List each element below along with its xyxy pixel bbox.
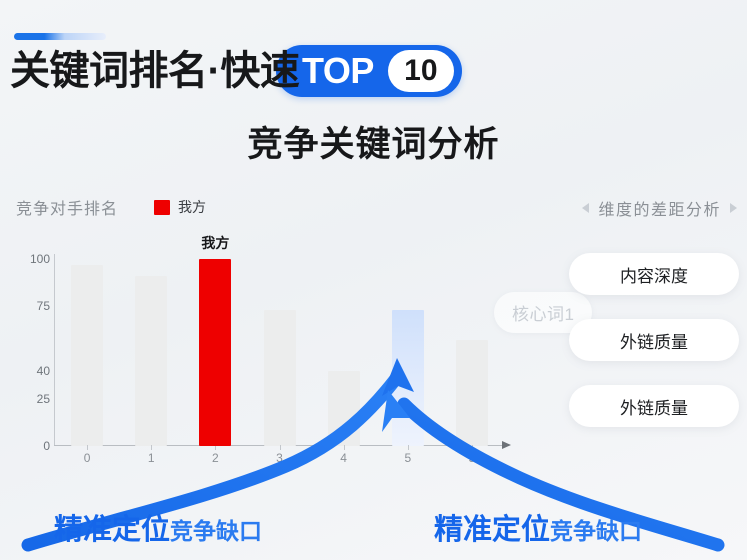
x-axis-tickmark [151, 445, 152, 450]
x-axis-tick: 4 [340, 451, 347, 465]
legend-label: 我方 [178, 197, 206, 217]
caption-right: 精准定位 竞争缺口 [434, 506, 642, 548]
slide-canvas: 关键词排名·快速 TOP 10 竞争关键词分析 竞争对手排名 我方 维度的差距分… [0, 0, 747, 560]
x-axis-tick: 0 [84, 451, 91, 465]
page-subtitle: 竞争关键词分析 [0, 116, 747, 167]
y-axis-tick: 75 [10, 299, 50, 313]
y-axis-tick: 100 [10, 252, 50, 266]
chart-bar [135, 276, 167, 446]
bar-chart: 1007540250 01我方23455 [8, 250, 538, 465]
caption-right-weak: 竞争缺口 [550, 512, 642, 546]
chart-header: 竞争对手排名 我方 [16, 195, 206, 219]
x-axis-tickmark [344, 445, 345, 450]
x-axis-tick: 2 [212, 451, 219, 465]
dimension-card-label: 外链质量 [620, 328, 688, 353]
top-rank-pill: TOP 10 [276, 45, 462, 97]
panel-title: 维度的差距分析 [598, 196, 721, 220]
chart-bar-label: 我方 [201, 233, 229, 253]
y-axis-tick: 40 [10, 364, 50, 378]
y-axis-tick: 25 [10, 392, 50, 406]
chart-bar [392, 310, 424, 446]
caption-left-weak: 竞争缺口 [170, 512, 262, 546]
x-axis-tick: 5 [404, 451, 411, 465]
chart-title: 竞争对手排名 [16, 195, 118, 219]
y-axis-tick: 0 [10, 439, 50, 453]
dimension-card[interactable]: 外链质量 [569, 385, 739, 427]
x-axis-tickmark [472, 445, 473, 450]
accent-bar [14, 33, 106, 40]
triangle-left-icon [582, 203, 589, 213]
chart-plot-area: 01我方23455 [55, 250, 504, 446]
chart-bar [456, 340, 488, 446]
chart-bar: 我方 [199, 259, 231, 446]
page-title: 关键词排名·快速 [10, 44, 299, 98]
caption-left: 精准定位 竞争缺口 [54, 506, 262, 548]
title-row: 关键词排名·快速 [10, 44, 299, 98]
chart-legend: 我方 [154, 197, 206, 217]
top-pill-word: TOP [302, 53, 374, 89]
caption-left-strong: 精准定位 [54, 506, 170, 548]
legend-swatch-icon [154, 200, 170, 215]
dimension-card-list: 内容深度外链质量外链质量 [569, 253, 739, 451]
x-axis-tickmark [87, 445, 88, 450]
x-axis-tick: 1 [148, 451, 155, 465]
dimension-card[interactable]: 外链质量 [569, 319, 739, 361]
triangle-right-icon [730, 203, 737, 213]
top-pill-badge: 10 [388, 50, 454, 92]
dimension-card-label: 外链质量 [620, 394, 688, 419]
panel-header: 维度的差距分析 [582, 196, 737, 220]
dimension-card-label: 内容深度 [620, 262, 688, 287]
chart-bar [71, 265, 103, 446]
chart-bar [264, 310, 296, 446]
x-axis-tickmark [280, 445, 281, 450]
chart-bar [328, 371, 360, 446]
x-axis-tick: 5 [469, 451, 476, 465]
y-axis-ticks: 1007540250 [8, 250, 50, 446]
x-axis-tickmark [408, 445, 409, 450]
x-axis-tick: 3 [276, 451, 283, 465]
dimension-card[interactable]: 内容深度 [569, 253, 739, 295]
caption-right-strong: 精准定位 [434, 506, 550, 548]
